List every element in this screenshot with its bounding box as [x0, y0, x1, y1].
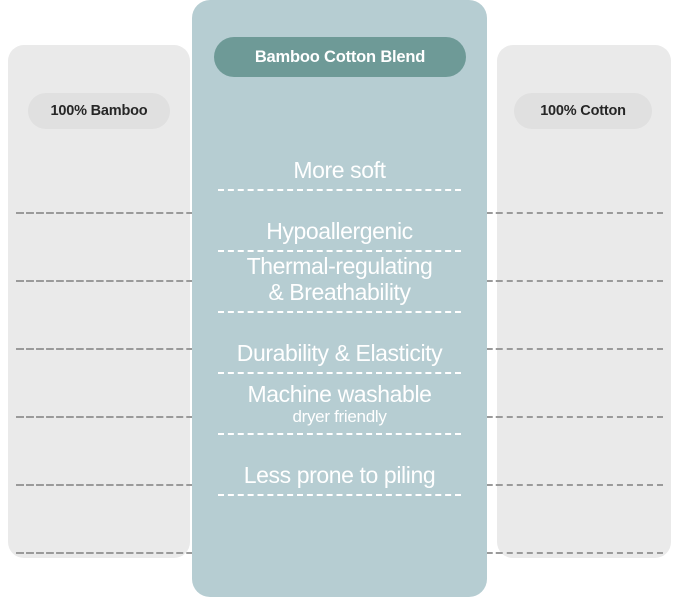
comparison-chart: 100% Bamboo More soft Hypoallergenic The…: [0, 0, 679, 602]
feature-row: Durability & Elasticity: [218, 313, 461, 374]
feature-label-line1: Durability & Elasticity: [237, 341, 443, 366]
feature-label-line1: Machine washable: [247, 382, 431, 407]
feature-row: Hypoallergenic: [218, 191, 461, 252]
feature-row: More soft: [218, 130, 461, 191]
column-badge-cotton: 100% Cotton: [514, 93, 652, 129]
feature-sublabel: dryer friendly: [292, 407, 386, 427]
feature-label-line2: & Breathability: [268, 280, 410, 305]
column-badge-bamboo: 100% Bamboo: [28, 93, 170, 129]
feature-label-line1: More soft: [293, 158, 385, 183]
feature-label-line1: Hypoallergenic: [266, 219, 413, 244]
feature-row: Machine washable dryer friendly: [218, 374, 461, 435]
feature-row: Less prone to piling: [218, 435, 461, 496]
feature-label-line1: Less prone to piling: [244, 463, 435, 488]
feature-label-line1: Thermal-regulating: [247, 254, 433, 279]
feature-list-blend: More soft Hypoallergenic Thermal-regulat…: [218, 130, 461, 496]
column-panel-blend-highlighted: Bamboo Cotton Blend More soft Hypoallerg…: [192, 0, 487, 597]
column-badge-blend: Bamboo Cotton Blend: [214, 37, 466, 77]
feature-row: Thermal-regulating & Breathability: [218, 252, 461, 313]
